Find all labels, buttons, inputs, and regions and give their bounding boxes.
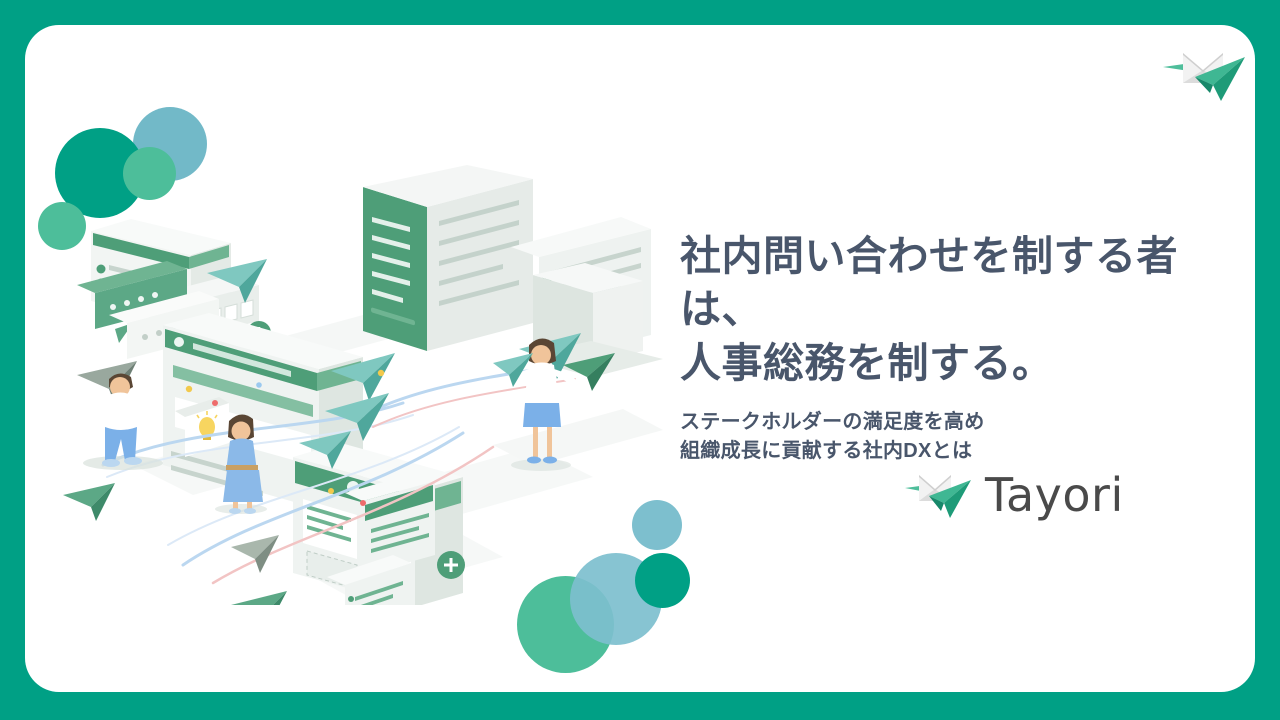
brand-logo: Tayori [905, 468, 1124, 522]
slide-card: 社内問い合わせを制する者は、 人事総務を制する。 ステークホルダーの満足度を高め… [25, 25, 1255, 692]
envelope-paper-plane-icon [905, 468, 971, 522]
page-title: 社内問い合わせを制する者は、 人事総務を制する。 [680, 230, 1240, 390]
isometric-internal-dx-illustration [63, 165, 683, 605]
slide-root: 社内問い合わせを制する者は、 人事総務を制する。 ステークホルダーの満足度を高め… [0, 0, 1280, 720]
envelope-paper-plane-icon [1161, 43, 1245, 103]
text-block: 社内問い合わせを制する者は、 人事総務を制する。 ステークホルダーの満足度を高め… [680, 230, 1240, 466]
brand-name: Tayori [985, 472, 1124, 518]
page-subtitle: ステークホルダーの満足度を高め 組織成長に貢献する社内DXとは [680, 408, 1240, 466]
